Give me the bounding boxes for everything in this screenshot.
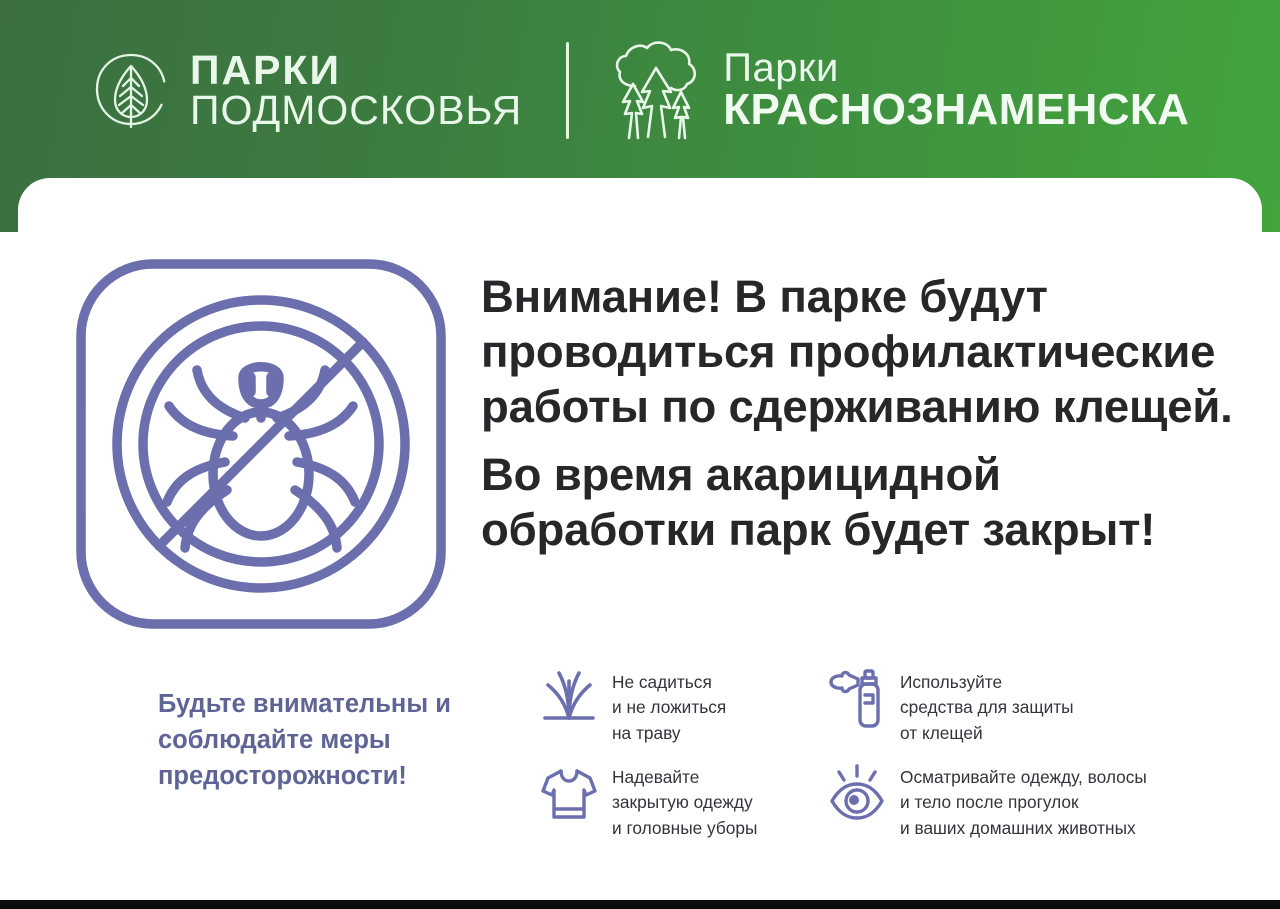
- no-tick-icon: [75, 258, 447, 630]
- spray-bottle-icon: [828, 668, 886, 730]
- brand-right-line1: Парки: [723, 48, 1189, 88]
- brand-right-wordmark: Парки КРАСНОЗНАМЕНСКА: [723, 48, 1189, 132]
- tip-inspect-after-walk: Осматривайте одежду, волосы и тело после…: [828, 763, 1262, 858]
- advice-text: Будьте внимательны и соблюдайте меры пре…: [158, 686, 508, 795]
- headline-paragraph-1: Внимание! В парке будут проводиться проф…: [481, 271, 1233, 432]
- tips-grid: Не садиться и не ложиться на траву Испо: [540, 668, 1262, 858]
- brand-left-line1: ПАРКИ: [190, 50, 522, 90]
- tshirt-icon: [540, 763, 598, 825]
- brand-parki-podmoskovya[interactable]: ПАРКИ ПОДМОСКОВЬЯ: [92, 50, 522, 130]
- main-section: Внимание! В парке будут проводиться проф…: [18, 178, 1262, 648]
- brand-right-line2: КРАСНОЗНАМЕНСКА: [723, 88, 1189, 132]
- header-content: ПАРКИ ПОДМОСКОВЬЯ: [0, 0, 1280, 180]
- tip-label: Надевайте закрытую одежду и головные убо…: [612, 763, 757, 841]
- content-card: Внимание! В парке будут проводиться проф…: [18, 178, 1262, 901]
- vertical-divider: [566, 42, 569, 139]
- tip-label: Используйте средства для защиты от клеще…: [900, 668, 1074, 746]
- tip-wear-covering-clothes: Надевайте закрытую одежду и головные убо…: [540, 763, 828, 858]
- brand-left-wordmark: ПАРКИ ПОДМОСКОВЬЯ: [190, 50, 522, 130]
- tips-section: Будьте внимательны и соблюдайте меры пре…: [18, 668, 1262, 888]
- leaf-in-circle-icon: [92, 50, 170, 130]
- grass-icon: [540, 668, 598, 730]
- bottom-bar: [0, 900, 1280, 909]
- tip-label: Осматривайте одежду, волосы и тело после…: [900, 763, 1147, 841]
- tip-use-repellent: Используйте средства для защиты от клеще…: [828, 668, 1262, 763]
- eye-icon: [828, 763, 886, 825]
- brand-parki-kraznoznamenska[interactable]: Парки КРАСНОЗНАМЕНСКА: [609, 38, 1189, 142]
- poster-root: ПАРКИ ПОДМОСКОВЬЯ: [0, 0, 1280, 909]
- tip-no-sitting-on-grass: Не садиться и не ложиться на траву: [540, 668, 828, 763]
- tree-grove-icon: [609, 38, 705, 142]
- headline-paragraph-2: Во время акарицидной обработки парк буде…: [481, 448, 1243, 558]
- brand-left-line2: ПОДМОСКОВЬЯ: [190, 90, 522, 130]
- page-title: Внимание! В парке будут проводиться проф…: [481, 270, 1243, 558]
- tip-label: Не садиться и не ложиться на траву: [612, 668, 726, 746]
